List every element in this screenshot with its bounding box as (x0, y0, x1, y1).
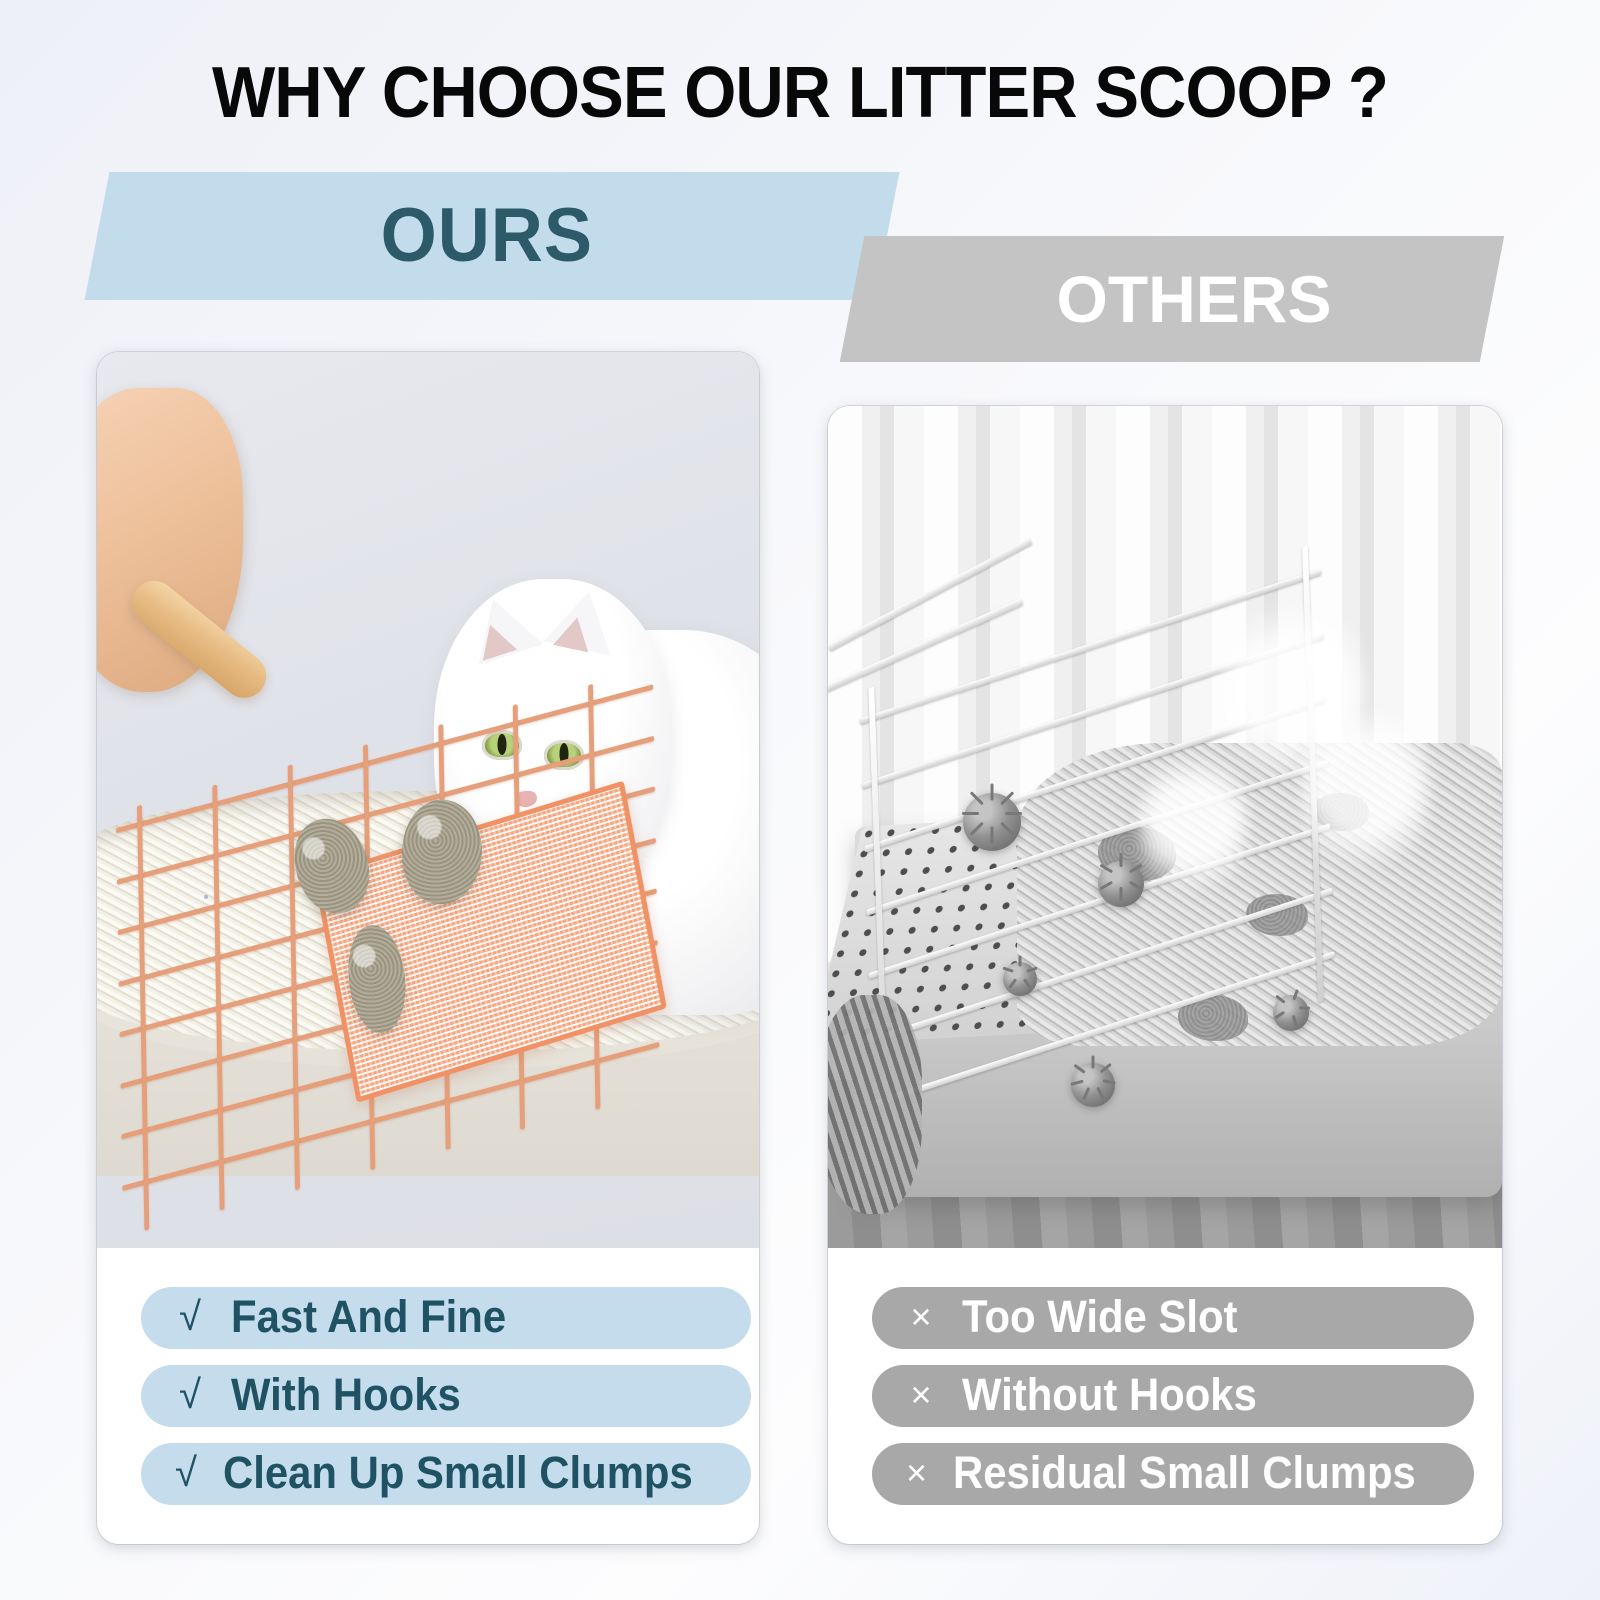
germ-icon (1003, 962, 1037, 996)
banner-others-label: OTHERS (1056, 266, 1331, 332)
cross-icon: × (906, 1377, 936, 1413)
ours-product-photo (97, 352, 759, 1248)
check-icon: √ (175, 1375, 205, 1415)
card-others: × Too Wide Slot × Without Hooks × Residu… (828, 406, 1502, 1544)
card-ours: √ Fast And Fine √ With Hooks √ Clean Up … (97, 352, 759, 1544)
banner-others: OTHERS (852, 236, 1492, 362)
feature-label: Fast And Fine (231, 1294, 506, 1339)
banner-ours-label: OURS (381, 198, 593, 274)
feature-label: Clean Up Small Clumps (223, 1450, 693, 1495)
feature-label: Too Wide Slot (962, 1294, 1237, 1339)
feature-pill-ours-2[interactable]: √ With Hooks (141, 1365, 751, 1427)
feature-pill-others-3[interactable]: × Residual Small Clumps (872, 1443, 1474, 1505)
feature-label: With Hooks (231, 1372, 461, 1417)
cat-ear-inner-right (553, 614, 595, 653)
feature-pill-ours-1[interactable]: √ Fast And Fine (141, 1287, 751, 1349)
feature-pill-others-2[interactable]: × Without Hooks (872, 1365, 1474, 1427)
page-title: WHY CHOOSE OUR LITTER SCOOP ? (56, 52, 1544, 134)
odor-steam (1300, 692, 1430, 882)
germ-icon (1071, 1063, 1115, 1107)
germ-icon (1273, 995, 1309, 1031)
banner-ours: OURS (97, 172, 887, 300)
feature-pill-ours-3[interactable]: √ Clean Up Small Clumps (141, 1443, 751, 1505)
others-feature-list: × Too Wide Slot × Without Hooks × Residu… (828, 1248, 1502, 1544)
check-icon: √ (175, 1297, 205, 1337)
germ-icon (1098, 861, 1144, 907)
others-product-photo (828, 406, 1502, 1248)
feature-pill-others-1[interactable]: × Too Wide Slot (872, 1287, 1474, 1349)
odor-steam (1138, 743, 1248, 903)
feature-label: Residual Small Clumps (953, 1450, 1416, 1495)
gray-cat (828, 995, 922, 1214)
ours-feature-list: √ Fast And Fine √ With Hooks √ Clean Up … (97, 1248, 759, 1544)
feature-label: Without Hooks (962, 1372, 1257, 1417)
cross-icon: × (906, 1299, 936, 1335)
check-icon: √ (175, 1453, 197, 1493)
germ-icon (963, 793, 1021, 851)
cross-icon: × (906, 1455, 927, 1491)
